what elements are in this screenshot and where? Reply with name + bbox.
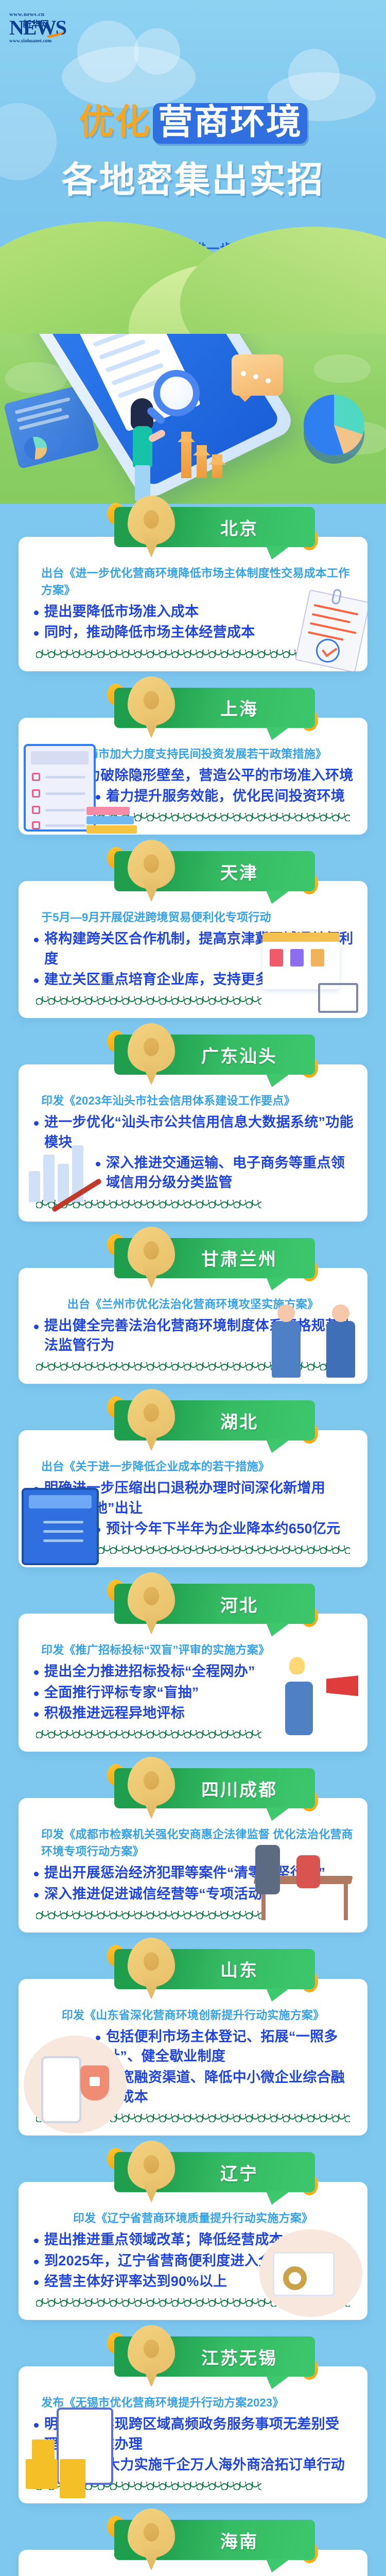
policy-point: 提出开展惩治经济犯罪等案件“清零攻坚行动” [32,1863,354,1883]
policy-point-list: 包括便利市场主体登记、拓展“一照多址”、健全歇业制度拓宽融资渠道、降低中小微企业… [32,2027,354,2107]
policy-point-list: 明确推动实现跨区域高频政务服务事项无差别受理、同标准办理大力实施千企万人海外商洽… [32,2414,354,2475]
region-card: 印发《山东省深化营商环境创新提升行动实施方案》包括便利市场主体登记、拓展“一照多… [19,1979,367,2136]
wave-divider [36,1362,350,1370]
map-pin-icon [128,1572,175,1634]
map-pin-icon [128,1938,175,1999]
region-badge-row: 甘肃兰州 [19,1235,367,1284]
policy-point: 到2025年，辽宁省营商便利度进入全国先进行列 [32,2251,354,2270]
map-pin-icon [128,2509,175,2570]
policy-point: 深入推进交通运输、电子商务等重点领域信用分级分类监管 [94,1153,354,1193]
hero-header: www.news.cn NEWS 新华网 www.xinhuanet.com 优… [0,0,386,335]
policy-document-title: 印发《辽宁省营商环境质量提升行动实施方案》 [32,2210,354,2227]
policy-point-list: 提出推进重点领域改革；降低经营成本到2025年，辽宁省营商便利度进入全国先进行列… [32,2230,354,2291]
policy-point-list: 提出健全完善法治化营商环境制度体系严格规范执法监管行为 [32,1316,354,1355]
policy-point: 明确推动实现跨区域高频政务服务事项无差别受理、同标准办理 [32,2414,354,2454]
growth-arrows-icon [181,432,227,478]
region-card: 发布《上海市加大力度支持民间投资发展若干政策措施》包括着力破除隐形壁垒，营造公平… [19,718,367,835]
policy-point: 大力实施千企万人海外商洽拓订单行动 [94,2455,354,2475]
policy-document-title: 发布《上海市加大力度支持民间投资发展若干政策措施》 [32,745,354,762]
map-pin-icon [128,1757,175,1819]
policy-document-title: 印发《成都市检察机关强化安商惠企法律监督 优化法治化营商环境专项行动方案》 [32,1826,354,1860]
region-section: 甘肃兰州出台《兰州市优化法治化营商环境攻坚实施方案》提出健全完善法治化营商环境制… [0,1235,386,1398]
policy-point: 建立关区重点培育企业库，支持更多企业享惠 [32,970,354,989]
map-pin-icon [128,2325,175,2387]
region-section: 山东印发《山东省深化营商环境创新提升行动实施方案》包括便利市场主体登记、拓展“一… [0,1946,386,2149]
logo-chinese-name: 新华网 [23,17,49,30]
wave-divider [36,1730,261,1738]
policy-document-title: 印发《2023年汕头市社会信用体系建设工作要点》 [32,1092,354,1109]
wave-divider [36,1911,261,1919]
region-card: 印发《成都市检察机关强化安商惠企法律监督 优化法治化营商环境专项行动方案》提出开… [19,1798,367,1933]
policy-point: 进一步优化“汕头市公共信用信息大数据系统”功能模块 [32,1112,354,1152]
region-section: 天津于5月—9月开展促进跨境贸易便利化专项行动将构建跨关区合作机制，提高京津冀区… [0,848,386,1031]
policy-point-list: 提出开展惩治经济犯罪等案件“清零攻坚行动”深入推进促进诚信经营等“专项活动” [32,1863,354,1904]
wave-divider [36,1546,350,1554]
region-card: 印发《2023年汕头市社会信用体系建设工作要点》进一步优化“汕头市公共信用信息大… [19,1064,367,1221]
region-section: 北京出台《进一步优化营商环境降低市场主体制度性交易成本工作方案》提出要降低市场准… [0,504,386,685]
policy-point: 深入推进促进诚信经营等“专项活动” [32,1884,354,1904]
region-section: 江苏无锡发布《无锡市优化营商环境提升行动方案2023》明确推动实现跨区域高频政务… [0,2333,386,2517]
region-badge-row: 河北 [19,1581,367,1630]
policy-point-list: 提出要降低市场准入成本同时，推动降低市场主体经营成本 [32,602,354,642]
policy-point: 着力提升服务效能，优化民间投资环境 [94,786,354,806]
region-card: 印发《辽宁省营商环境质量提升行动实施方案》提出推进重点领域改革；降低经营成本到2… [19,2182,367,2320]
policy-point-list: 提出全力推进招标投标“全程网办”全面推行评标专家“盲抽”积极推进远程异地评标 [32,1662,354,1723]
policy-point: 积极推进远程异地评标 [32,1703,354,1723]
wave-divider [36,650,350,658]
wave-divider [36,2114,350,2122]
region-badge-row: 四川成都 [19,1765,367,1815]
map-pin-icon [128,2141,175,2202]
xinhua-logo: www.news.cn NEWS 新华网 www.xinhuanet.com [9,11,61,44]
policy-point: 预计今年下半年为企业降本约650亿元 [94,1519,354,1538]
region-badge-row: 湖北 [19,1397,367,1447]
policy-point: 拓宽融资渠道、降低中小微企业综合融资成本 [94,2067,354,2107]
policy-point: 同时，推动降低市场主体经营成本 [32,622,354,642]
wave-divider [36,1200,261,1208]
region-section: 广东汕头印发《2023年汕头市社会信用体系建设工作要点》进一步优化“汕头市公共信… [0,1031,386,1234]
region-section: 四川成都印发《成都市检察机关强化安商惠企法律监督 优化法治化营商环境专项行动方案… [0,1765,386,1946]
wave-divider [36,996,261,1005]
policy-point: 提出全力推进招标投标“全程网办” [32,1662,354,1681]
region-badge-row: 海南 [19,2517,367,2566]
region-section: 湖北出台《关于进一步降低企业成本的若干措施》明确进一步压缩出口退税办理时间深化新… [0,1397,386,1581]
policy-point-list: 明确进一步压缩出口退税办理时间深化新增用地“标准地”出让预计今年下半年为企业降本… [32,1478,354,1538]
region-badge-row: 北京 [19,504,367,553]
region-badge-row: 广东汕头 [19,1031,367,1081]
region-card: 出台《兰州市优化法治化营商环境攻坚实施方案》提出健全完善法治化营商环境制度体系严… [19,1268,367,1384]
region-badge-row: 山东 [19,1946,367,1995]
region-badge-row: 江苏无锡 [19,2333,367,2383]
policy-point: 包括便利市场主体登记、拓展“一照多址”、健全歇业制度 [94,2027,354,2066]
policy-point: 包括着力破除隐形壁垒，营造公平的市场准入环境 [32,766,354,785]
policy-document-title: 印发《山东省深化营商环境创新提升行动实施方案》 [32,2007,354,2024]
region-section: 辽宁印发《辽宁省营商环境质量提升行动实施方案》提出推进重点领域改革；降低经营成本… [0,2149,386,2333]
region-badge-row: 上海 [19,685,367,734]
policy-point-list: 包括着力破除隐形壁垒，营造公平的市场准入环境着力提升服务效能，优化民间投资环境 [32,766,354,806]
policy-point: 提出健全完善法治化营商环境制度体系严格规范执法监管行为 [32,1316,354,1355]
map-pin-icon [128,1389,175,1451]
map-pin-icon [128,676,175,738]
policy-point: 提出推进重点领域改革；降低经营成本 [32,2230,354,2249]
region-card: 发布《无锡市优化营商环境提升行动方案2023》明确推动实现跨区域高频政务服务事项… [19,2366,367,2503]
region-card: 出台《关于进一步降低企业成本的若干措施》明确进一步压缩出口退税办理时间深化新增用… [19,1430,367,1567]
region-badge-row: 天津 [19,848,367,897]
region-section: 上海发布《上海市加大力度支持民间投资发展若干政策措施》包括着力破除隐形壁垒，营造… [0,685,386,849]
logo-url-bottom: www.xinhuanet.com [9,39,61,44]
wave-divider [36,813,350,821]
region-badge-row: 辽宁 [19,2149,367,2198]
region-section: 海南印发《关于深化工程建设项目领域“极简审批”制度改革优化营商环境若干措施》提出… [0,2517,386,2576]
map-pin-icon [128,840,175,902]
policy-point: 全面推行评标专家“盲抽” [32,1683,354,1702]
policy-point: 明确进一步压缩出口退税办理时间深化新增用地“标准地”出让 [32,1478,354,1518]
pie-chart-icon [304,395,364,455]
hero-illustration [0,334,386,504]
page-title: 优化营商环境 各地密集出实招 [0,103,386,203]
map-pin-icon [128,496,175,557]
policy-point: 提出要降低市场准入成本 [32,602,354,621]
region-section: 河北印发《推广招标投标“双盲”评审的实施方案》提出全力推进招标投标“全程网办”全… [0,1581,386,1765]
policy-document-title: 出台《进一步优化营商环境降低市场主体制度性交易成本工作方案》 [32,565,354,599]
map-pin-icon [128,1227,175,1289]
policy-document-title: 印发《推广招标投标“双盲”评审的实施方案》 [32,1641,354,1658]
policy-point-list: 进一步优化“汕头市公共信用信息大数据系统”功能模块深入推进交通运输、电子商务等重… [32,1112,354,1192]
policy-point: 经营主体好评率达到90%以上 [32,2272,354,2291]
policy-point: 将构建跨关区合作机制，提高京津冀区域通关便利度 [32,929,354,969]
speech-bubble-icon [232,354,283,396]
title-part-1: 优化 [79,103,151,142]
policy-document-title: 于5月—9月开展促进跨境贸易便利化专项行动 [32,909,354,926]
policy-document-title: 出台《关于进一步降低企业成本的若干措施》 [32,1458,354,1475]
wave-divider [36,2298,350,2307]
region-card: 于5月—9月开展促进跨境贸易便利化专项行动将构建跨关区合作机制，提高京津冀区域通… [19,881,367,1018]
magnifier-icon [153,370,200,416]
title-part-2: 营商环境 [153,103,307,144]
infographic-page: www.news.cn NEWS 新华网 www.xinhuanet.com 优… [0,0,386,2576]
region-card: 印发《推广招标投标“双盲”评审的实施方案》提出全力推进招标投标“全程网办”全面推… [19,1614,367,1752]
policy-document-title: 出台《兰州市优化法治化营商环境攻坚实施方案》 [32,1296,354,1313]
policy-document-title: 发布《无锡市优化营商环境提升行动方案2023》 [32,2394,354,2411]
policy-point-list: 将构建跨关区合作机制，提高京津冀区域通关便利度建立关区重点培育企业库，支持更多企… [32,929,354,989]
cloud-decoration [62,46,196,108]
wave-divider [36,2482,261,2490]
map-pin-icon [128,1023,175,1085]
hill-decoration [0,232,386,335]
title-line-2: 各地密集出实招 [0,151,386,203]
region-card: 出台《进一步优化营商环境降低市场主体制度性交易成本工作方案》提出要降低市场准入成… [19,537,367,671]
